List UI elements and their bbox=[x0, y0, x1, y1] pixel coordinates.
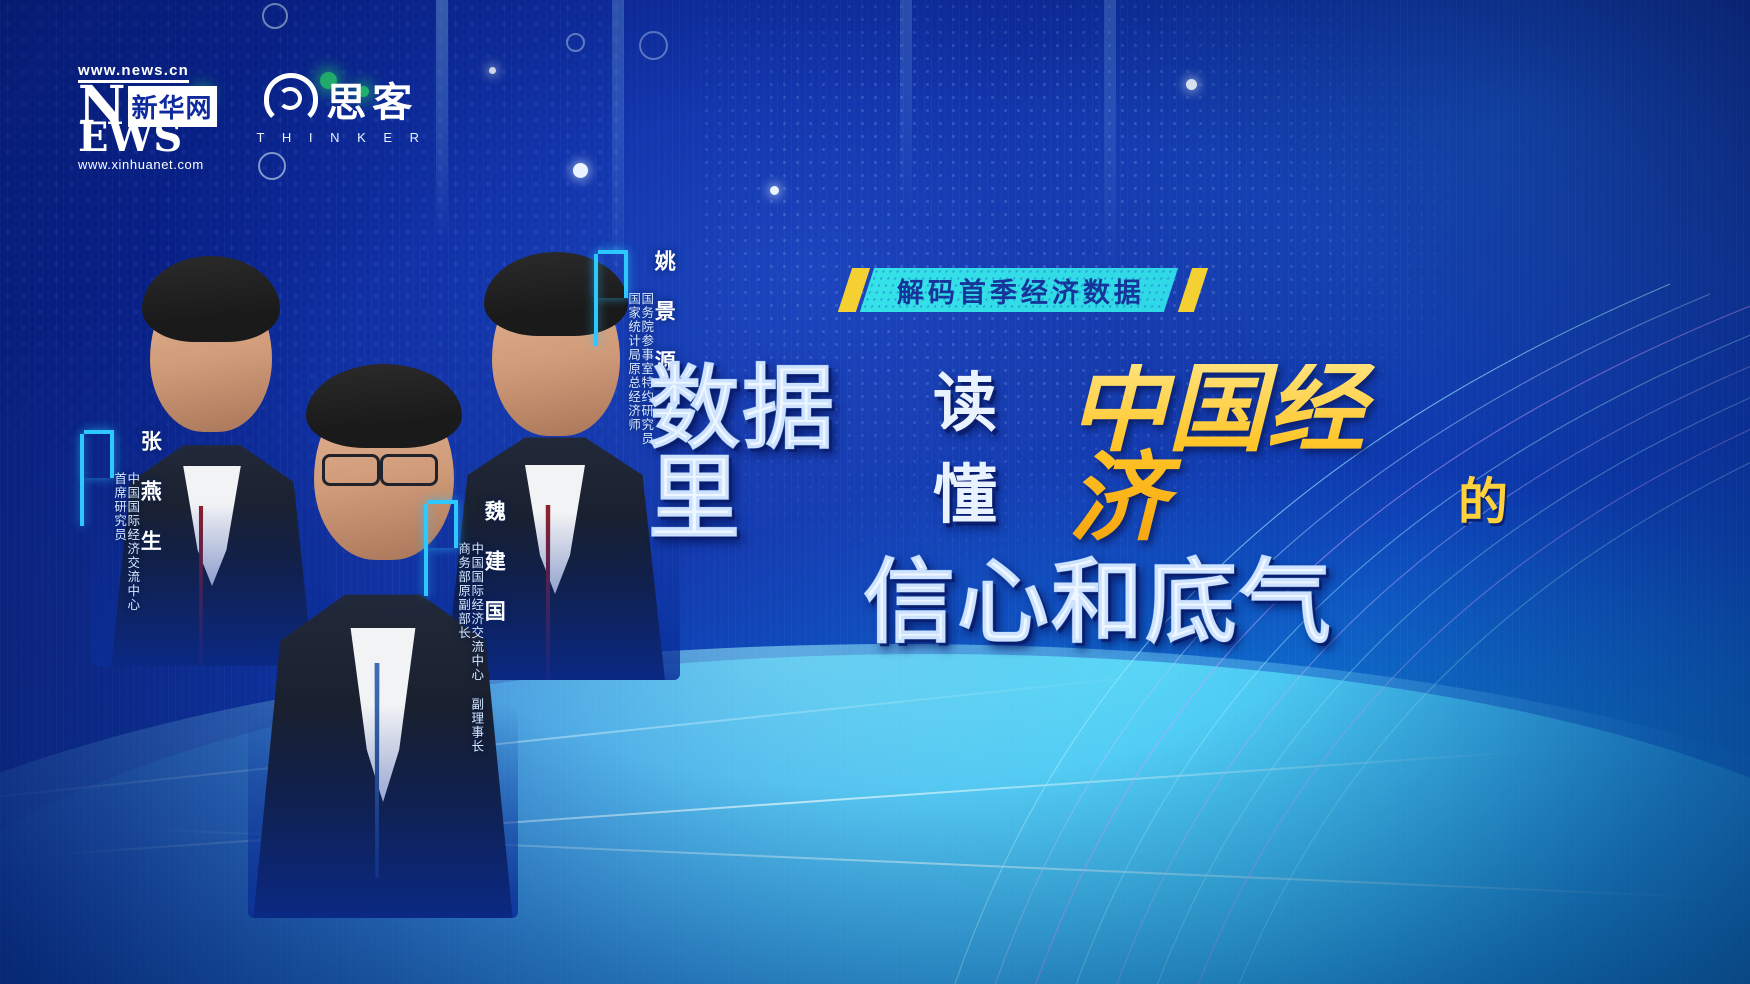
banner-text: 解码首季经济数据 bbox=[897, 271, 1145, 310]
corner-bracket-icon bbox=[84, 430, 114, 478]
headline-suffix: 的 bbox=[1458, 462, 1508, 534]
guest-name: 魏 建 国 bbox=[482, 500, 504, 754]
headline-white-part-b: 信心和底气 bbox=[863, 558, 1333, 648]
guest-name: 张 燕 生 bbox=[138, 430, 160, 612]
guest-position: 国家统计局原总经济师 bbox=[626, 292, 639, 446]
thinker-cn-name: 思客 bbox=[326, 70, 418, 128]
guest-position: 首席研究员 bbox=[112, 472, 125, 612]
headline-white-part-a: 数据里 bbox=[648, 364, 921, 544]
poster-canvas: 张 燕 生 中国国际经济交流中心 首席研究员 魏 建 国 中国国际经济交流中心 … bbox=[0, 0, 1750, 984]
headline-line-2: 信心和底气 bbox=[648, 558, 1508, 648]
guest-affiliation: 中国国际经济交流中心 bbox=[125, 472, 138, 612]
guest-position: 商务部原副部长 bbox=[456, 542, 469, 754]
thinker-en-name: T H I N K E R bbox=[257, 130, 427, 145]
headline-block: 数据里 读懂 中国经济 的 信心和底气 bbox=[648, 352, 1508, 648]
guest-affiliation: 中国国际经济交流中心 副理事长 bbox=[469, 542, 482, 754]
nametag-zhang-yansheng: 张 燕 生 中国国际经济交流中心 首席研究员 bbox=[84, 430, 160, 612]
headline-mid-part: 读懂 bbox=[933, 352, 1059, 536]
xinhua-bottom-url: www.xinhuanet.com bbox=[78, 157, 204, 172]
topic-banner: 解码首季经济数据 bbox=[845, 268, 1171, 312]
banner-body: 解码首季经济数据 bbox=[860, 268, 1178, 312]
corner-bracket-icon bbox=[428, 500, 458, 548]
headline-line-1: 数据里 读懂 中国经济 的 bbox=[648, 352, 1508, 544]
corner-bracket-icon bbox=[598, 250, 628, 298]
logo-group: www.news.cn N 新华网 EWS www.xinhuanet.com … bbox=[78, 62, 426, 172]
headline-gold-part: 中国经济 bbox=[1069, 364, 1452, 544]
xinhua-logo[interactable]: www.news.cn N 新华网 EWS www.xinhuanet.com bbox=[78, 62, 217, 172]
spiral-wave-icon bbox=[264, 73, 318, 125]
thinker-logo[interactable]: 思客 T H I N K E R bbox=[257, 70, 427, 145]
nametag-wei-jianguo: 魏 建 国 中国国际经济交流中心 副理事长 商务部原副部长 bbox=[428, 500, 504, 754]
xinhua-letters-ews: EWS bbox=[78, 122, 182, 154]
